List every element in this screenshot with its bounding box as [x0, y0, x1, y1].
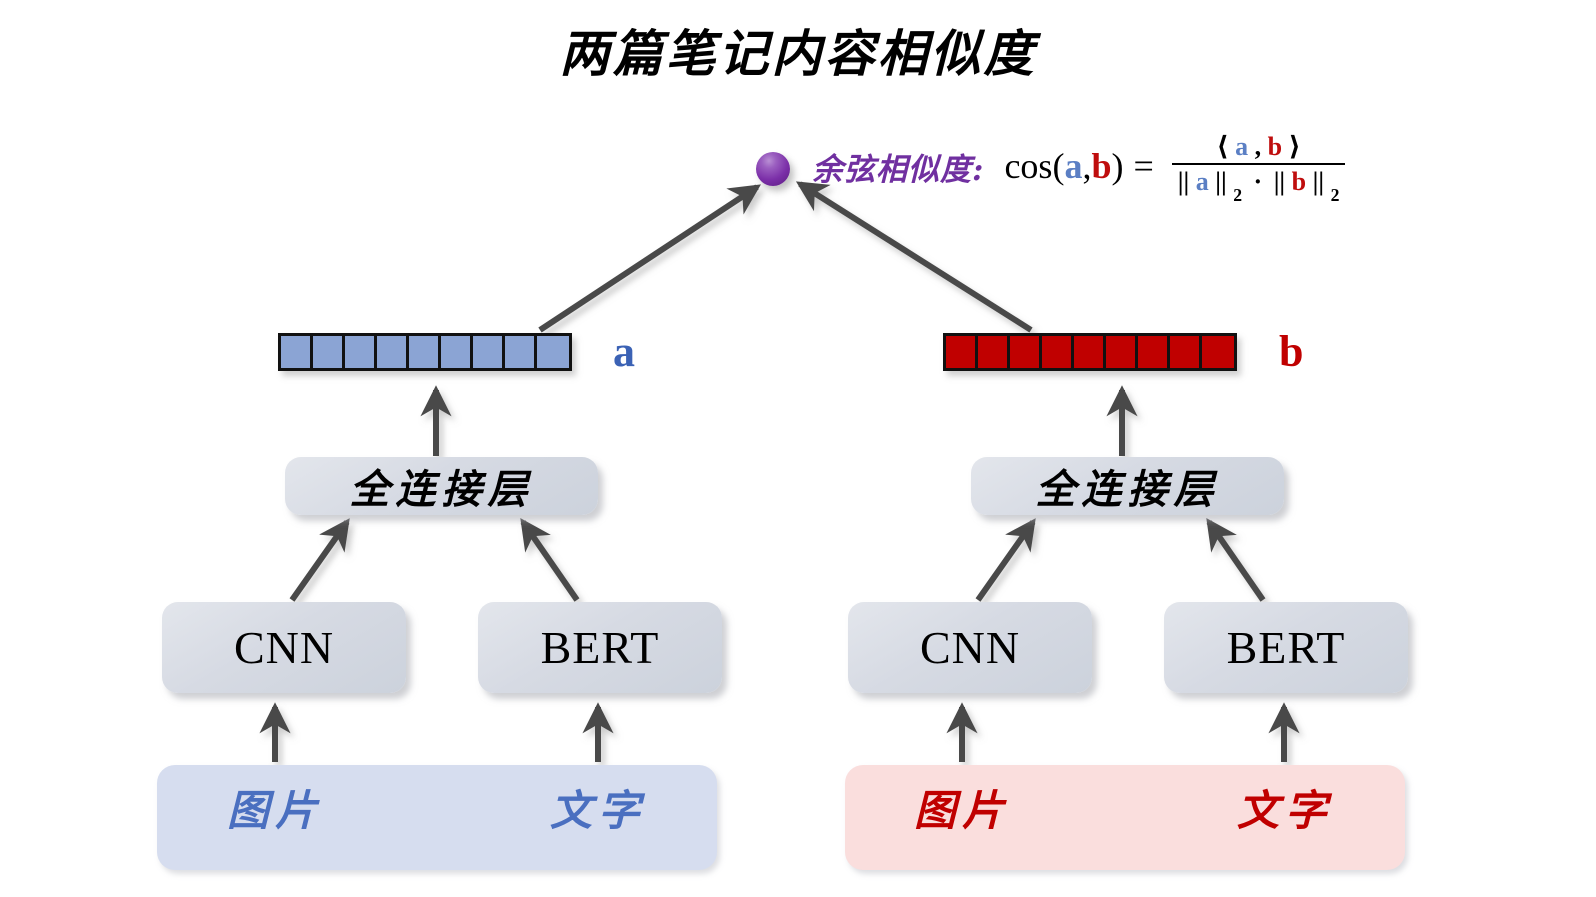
formula-expression: cos( a , b ) = ⟨ a , b ⟩ || a || 2 [1004, 133, 1345, 200]
purple-sphere-icon [756, 152, 790, 186]
vector-cell [505, 336, 537, 368]
inner-product-close: ⟩ [1289, 131, 1301, 161]
inner-product-comma: , [1255, 132, 1268, 161]
formula-cos-open: cos( [1004, 145, 1064, 187]
vector-cell [441, 336, 473, 368]
norm-a-open: || [1178, 167, 1189, 196]
arrow-vector-b-to-similarity [800, 184, 1031, 330]
right-input-image-label: 图片 [914, 790, 1010, 832]
vector-cell [1138, 336, 1170, 368]
vector-a-bar [278, 333, 572, 371]
left-input-image-label: 图片 [227, 790, 323, 832]
left-bert-box[interactable]: BERT [478, 602, 722, 693]
arrow-vector-a-to-similarity [540, 187, 757, 330]
formula-arg-a: a [1064, 145, 1082, 187]
norm-b-subscript: 2 [1331, 185, 1340, 205]
vector-cell [313, 336, 345, 368]
vector-cell [946, 336, 978, 368]
arrow-left-cnn-to-fc [292, 522, 347, 600]
norm-product-dot: · [1254, 167, 1263, 196]
formula-equals: = [1133, 145, 1153, 187]
vector-cell [978, 336, 1010, 368]
formula-cos-close: ) [1111, 145, 1123, 187]
right-input-text-label: 文字 [1237, 790, 1333, 832]
left-input-text-label: 文字 [550, 790, 646, 832]
norm-a-vector: a [1196, 167, 1209, 196]
cosine-similarity-label: 余弦相似度: [812, 144, 984, 189]
inner-product-a: a [1235, 132, 1248, 161]
left-cnn-box[interactable]: CNN [162, 602, 406, 693]
norm-a-close: || [1215, 167, 1226, 196]
vector-cell [1106, 336, 1138, 368]
formula-comma: , [1082, 145, 1091, 187]
vector-cell [473, 336, 505, 368]
left-cnn-label: CNN [234, 621, 334, 674]
vector-cell [537, 336, 569, 368]
arrow-right-cnn-to-fc [978, 522, 1033, 600]
vector-cell [345, 336, 377, 368]
right-cnn-box[interactable]: CNN [848, 602, 1092, 693]
vector-cell [1010, 336, 1042, 368]
left-fc-layer-label: 全连接层 [350, 457, 534, 515]
diagram-canvas: 两篇笔记内容相似度 [0, 0, 1596, 897]
norm-b-close: || [1313, 167, 1324, 196]
page-title: 两篇笔记内容相似度 [0, 14, 1596, 86]
vector-cell [1074, 336, 1106, 368]
vector-cell [1202, 336, 1234, 368]
right-bert-box[interactable]: BERT [1164, 602, 1408, 693]
norm-b-vector: b [1292, 167, 1306, 196]
formula-fraction: ⟨ a , b ⟩ || a || 2 · || b || 2 [1172, 133, 1346, 200]
arrow-left-bert-to-fc [523, 522, 577, 600]
vector-a-label: a [613, 330, 635, 374]
inner-product-b: b [1268, 132, 1282, 161]
left-bert-label: BERT [541, 621, 660, 674]
vector-cell [281, 336, 313, 368]
arrow-layer [0, 0, 1596, 897]
vector-b-label: b [1279, 330, 1303, 374]
right-bert-label: BERT [1227, 621, 1346, 674]
vector-cell [409, 336, 441, 368]
right-fc-layer-label: 全连接层 [1036, 457, 1220, 515]
arrow-right-bert-to-fc [1209, 522, 1263, 600]
formula-arg-b: b [1091, 145, 1111, 187]
inner-product-open: ⟨ [1216, 131, 1228, 161]
vector-cell [1042, 336, 1074, 368]
cosine-similarity-formula: 余弦相似度: cos( a , b ) = ⟨ a , b ⟩ || a [812, 133, 1345, 200]
vector-cell [377, 336, 409, 368]
right-cnn-label: CNN [920, 621, 1020, 674]
norm-a-subscript: 2 [1233, 185, 1242, 205]
formula-numerator: ⟨ a , b ⟩ [1210, 133, 1306, 163]
norm-b-open: || [1274, 167, 1285, 196]
vector-b-bar [943, 333, 1237, 371]
vector-cell [1170, 336, 1202, 368]
formula-denominator: || a || 2 · || b || 2 [1172, 165, 1346, 200]
right-fc-layer-box[interactable]: 全连接层 [971, 457, 1284, 515]
left-fc-layer-box[interactable]: 全连接层 [285, 457, 598, 515]
